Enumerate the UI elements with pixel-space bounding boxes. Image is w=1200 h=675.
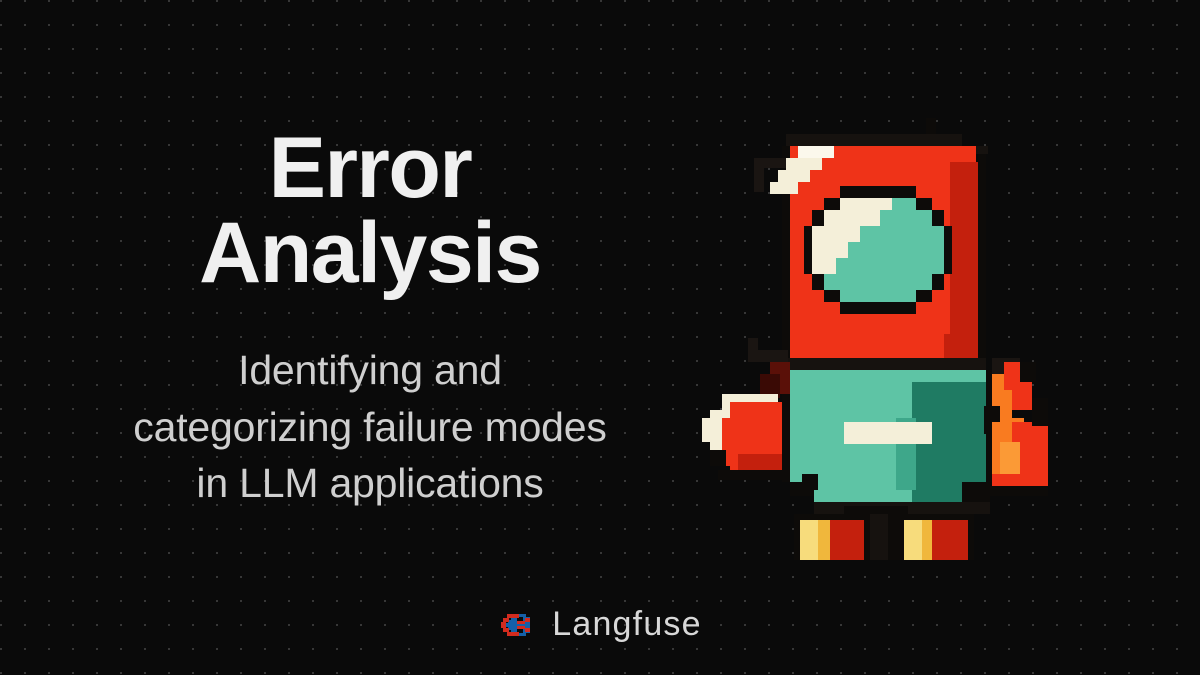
hero-text-block: Error Analysis Identifying and categoriz… [40, 126, 700, 512]
page-title: Error Analysis [40, 126, 700, 296]
slide-canvas: Error Analysis Identifying and categoriz… [0, 0, 1200, 675]
pixel-robot-illustration [688, 118, 1050, 560]
page-subtitle: Identifying and categorizing failure mod… [40, 342, 700, 512]
langfuse-logo-icon [498, 610, 536, 640]
brand-footer: Langfuse [0, 605, 1200, 644]
brand-wordmark: Langfuse [552, 605, 702, 644]
